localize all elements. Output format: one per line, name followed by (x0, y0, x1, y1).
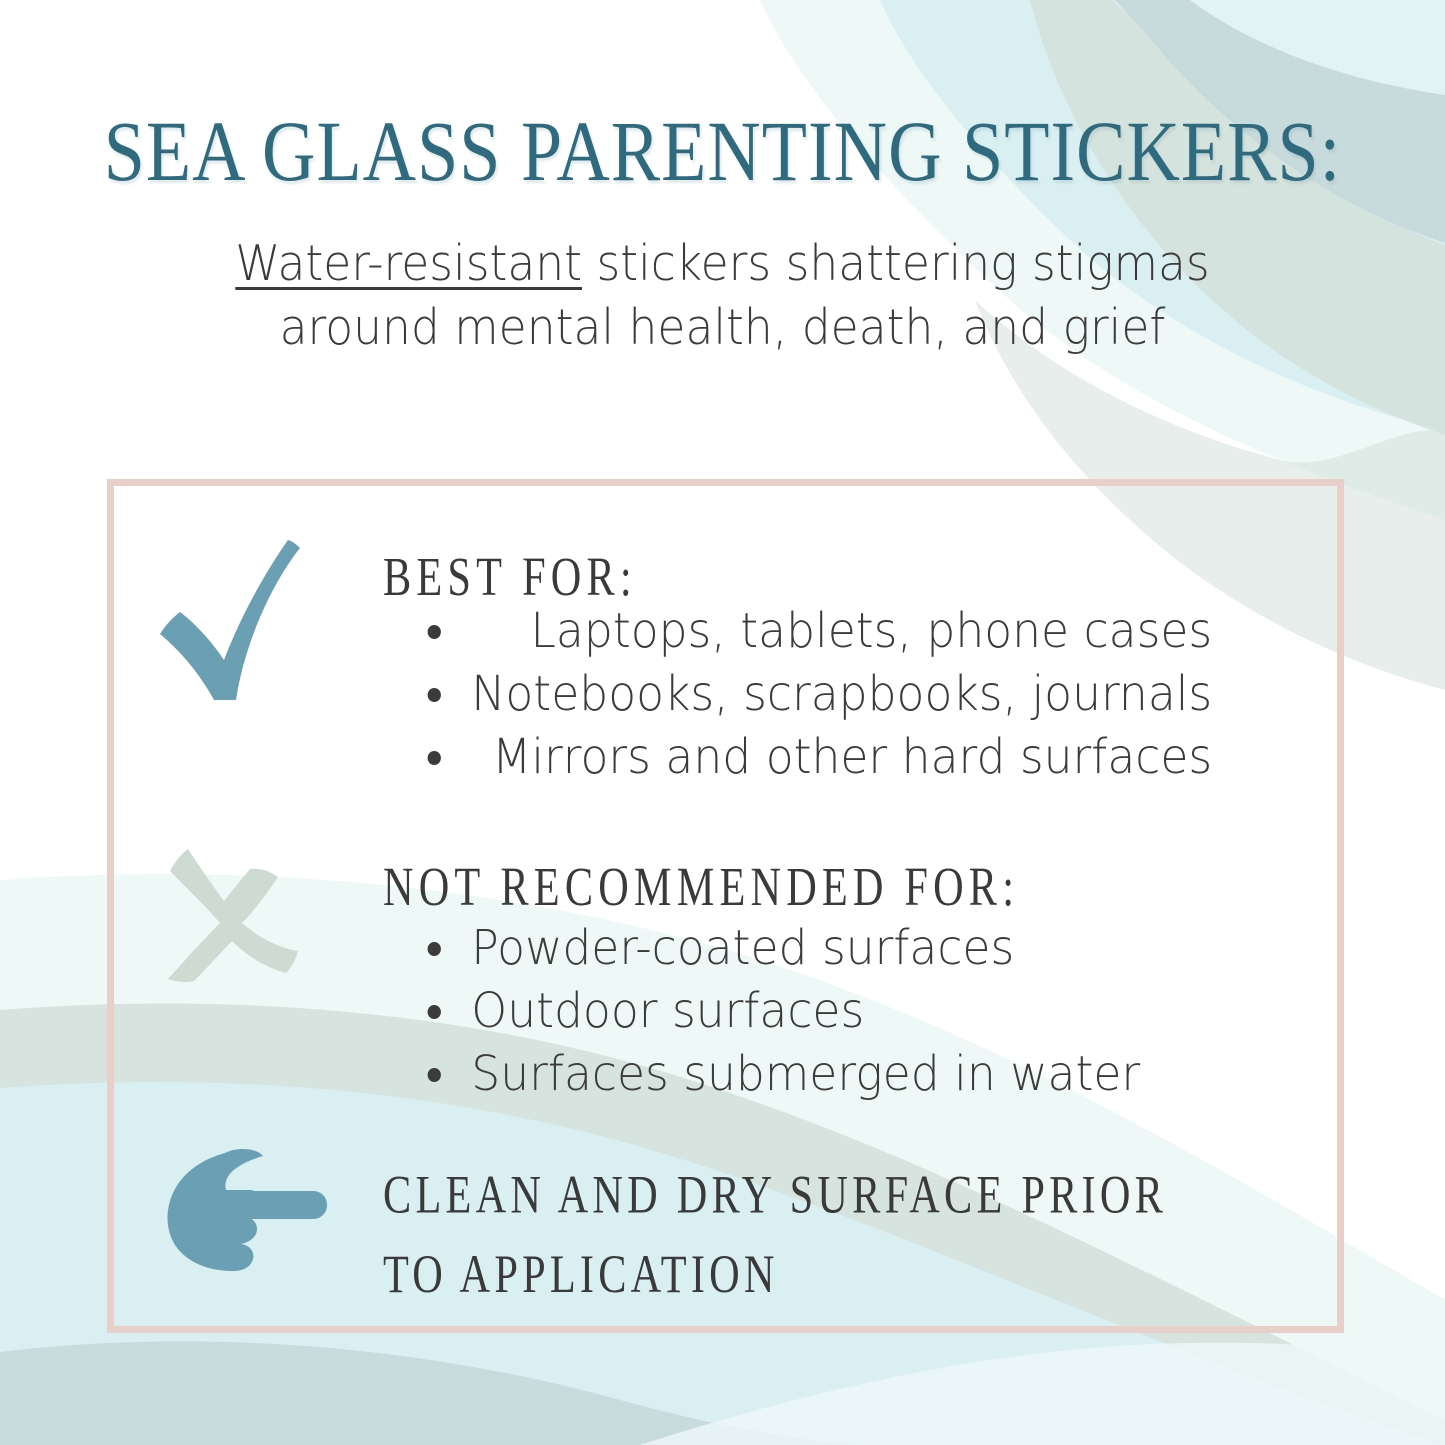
not-recommended-heading: NOT RECOMMENDED FOR: (383, 855, 1019, 918)
sticker-info-card: SEA GLASS PARENTING STICKERS: Water-resi… (0, 0, 1445, 1445)
subtitle-underlined-term: Water-resistant (235, 235, 582, 292)
best-for-heading: BEST FOR: (383, 545, 637, 608)
list-item: Laptops, tablets, phone cases (420, 600, 1212, 663)
final-note: CLEAN AND DRY SURFACE PRIOR TO APPLICATI… (383, 1155, 1229, 1313)
list-item: Outdoor surfaces (420, 980, 1140, 1043)
final-note-line1: CLEAN AND DRY SURFACE PRIOR (383, 1165, 1167, 1225)
pointing-hand-left-icon (163, 1145, 328, 1275)
best-for-list: Laptops, tablets, phone cases Notebooks,… (420, 600, 1254, 789)
list-item: Surfaces submerged in water (420, 1043, 1140, 1106)
cross-icon (160, 843, 305, 983)
page-subtitle: Water-resistant stickers shattering stig… (51, 232, 1395, 359)
list-item: Mirrors and other hard surfaces (420, 726, 1212, 789)
list-item: Powder-coated surfaces (420, 917, 1140, 980)
not-recommended-list: Powder-coated surfaces Outdoor surfaces … (420, 917, 1178, 1106)
final-note-line2: TO APPLICATION (383, 1244, 779, 1304)
list-item: Notebooks, scrapbooks, journals (420, 663, 1212, 726)
subtitle-line1-rest: stickers shattering stigmas (582, 235, 1210, 292)
subtitle-line2: around mental health, death, and grief (280, 299, 1166, 356)
check-icon (160, 536, 315, 701)
page-title: SEA GLASS PARENTING STICKERS: (101, 108, 1344, 194)
